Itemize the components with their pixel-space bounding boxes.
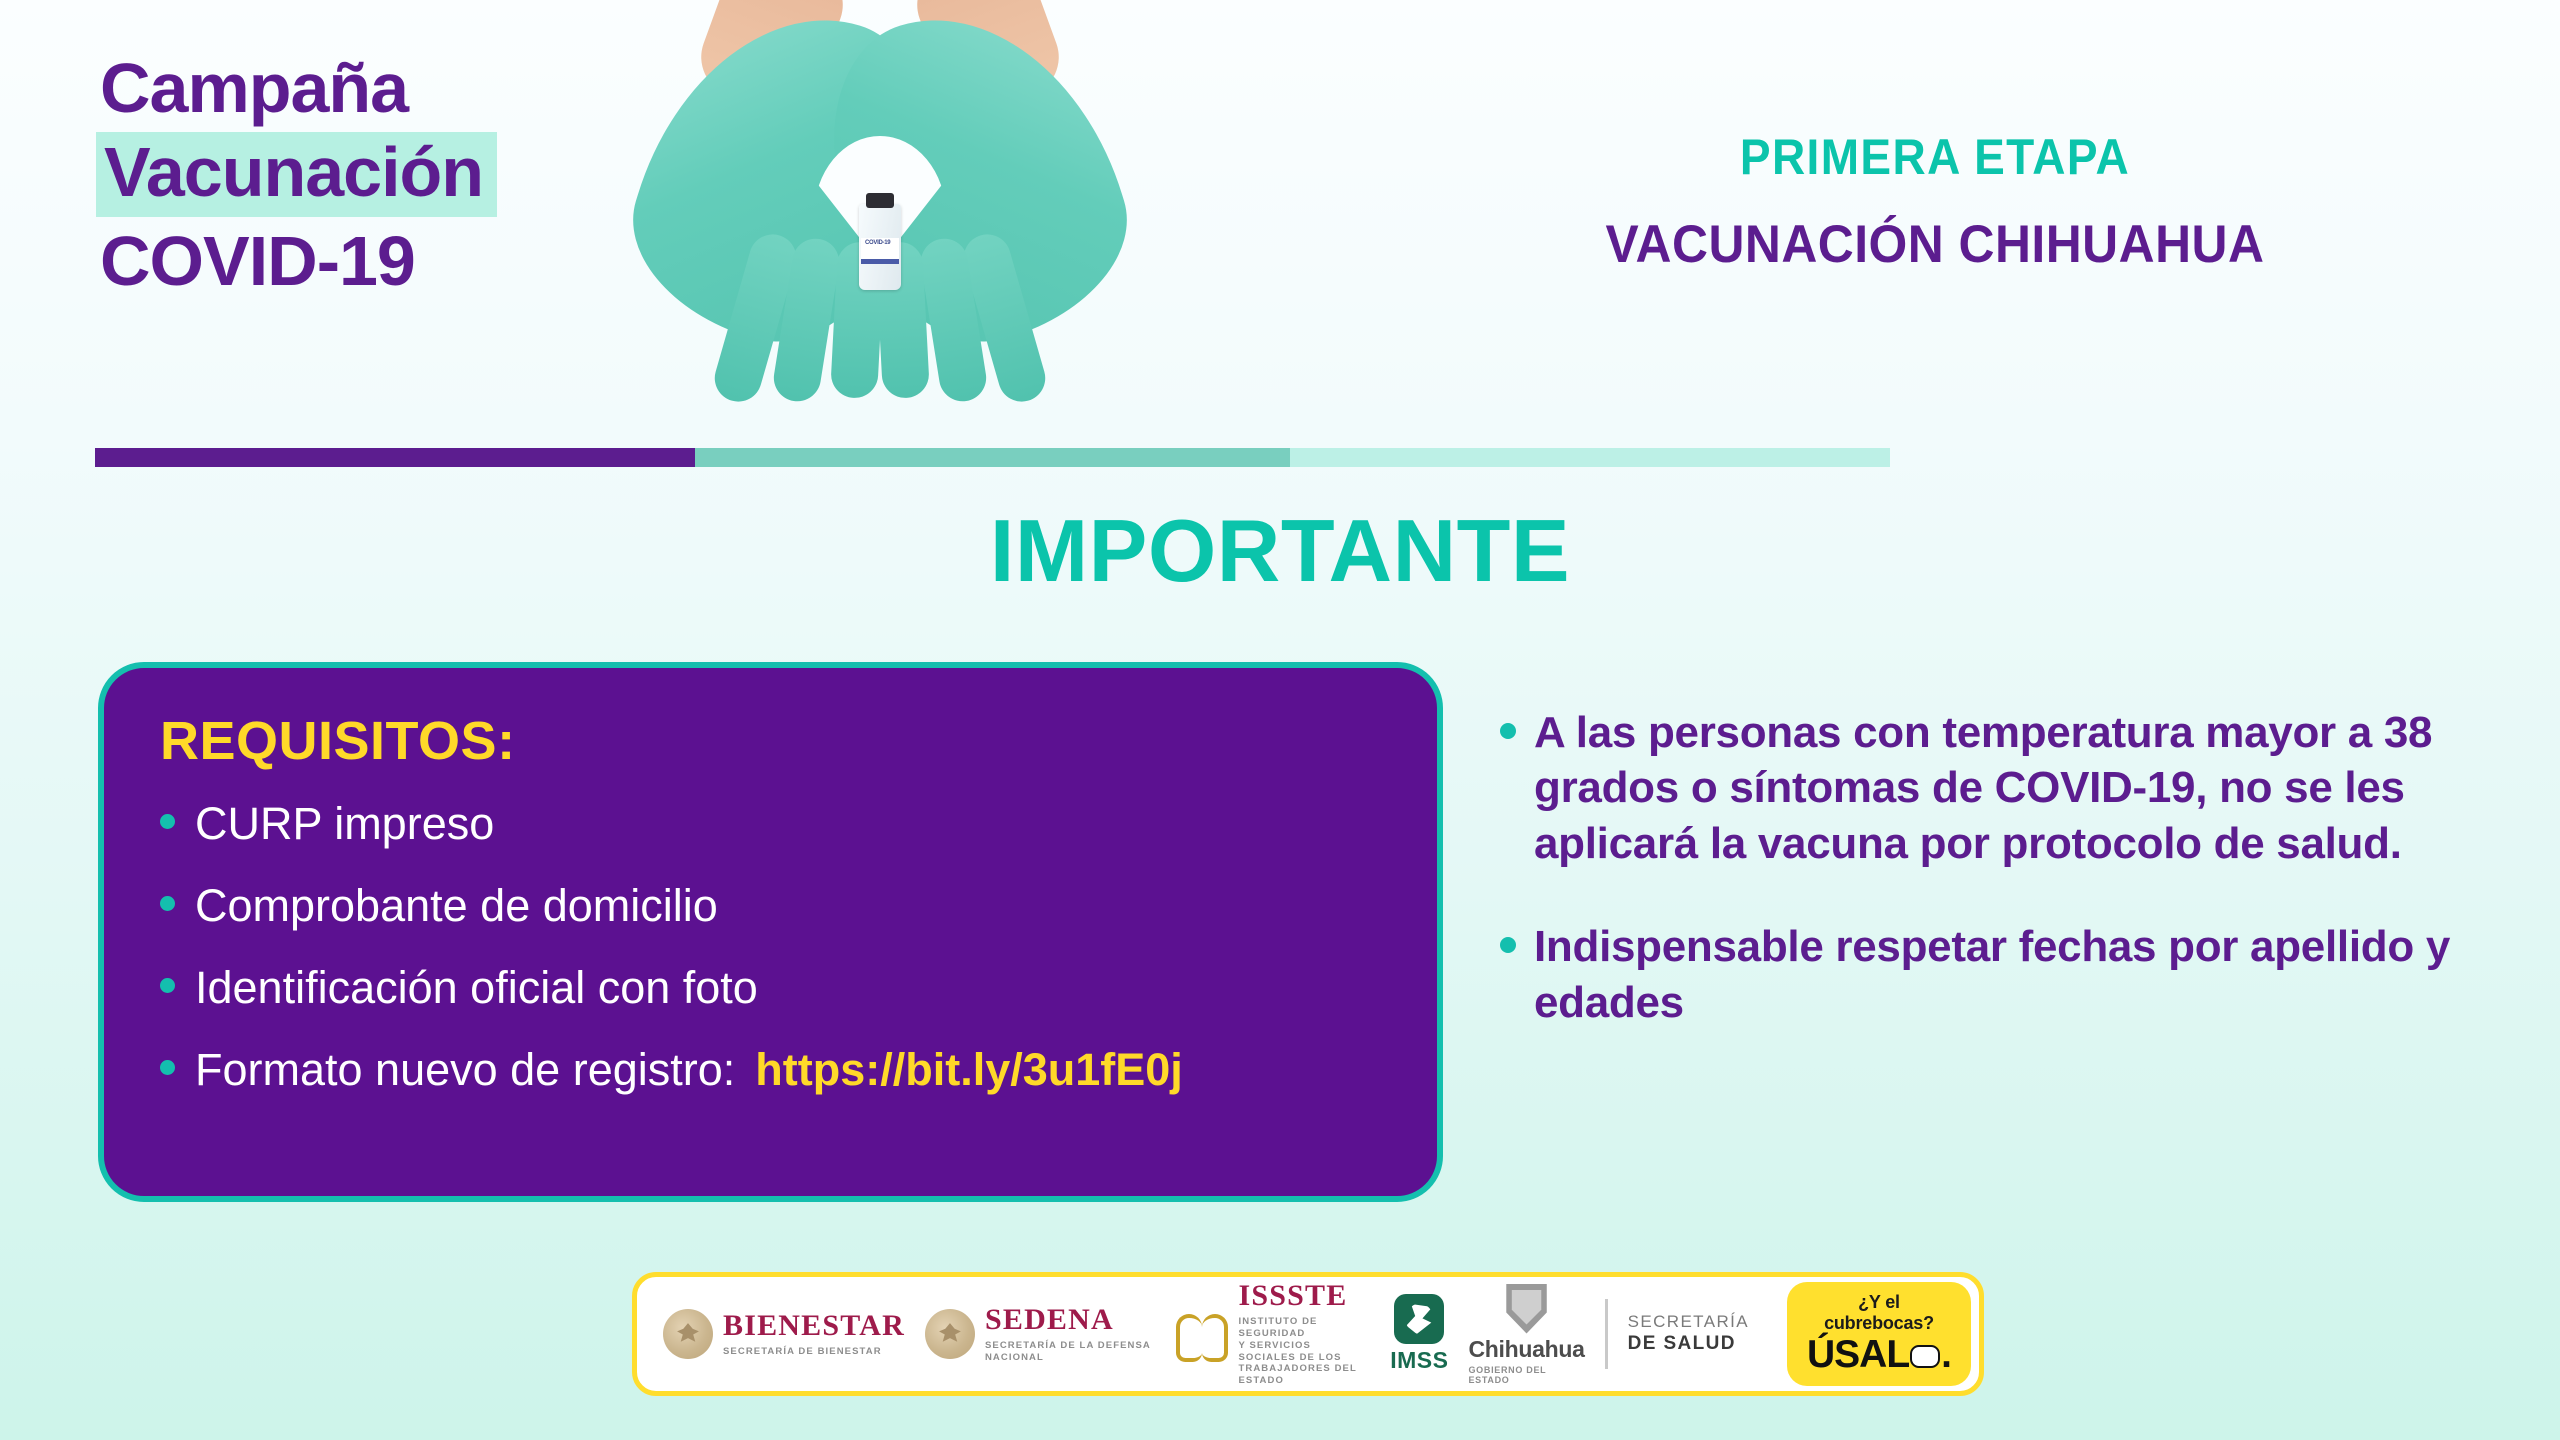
logo-subtitle: SECRETARÍA DE LA DEFENSA NACIONAL	[985, 1340, 1157, 1364]
imss-mother-child-icon	[1394, 1294, 1444, 1344]
bullet-icon	[160, 978, 175, 993]
logo-name: BIENESTAR	[723, 1311, 905, 1341]
requisitos-panel: REQUISITOS: CURP impreso Comprobante de …	[98, 662, 1443, 1202]
vial-label: COVID-19	[861, 238, 899, 264]
logo-bienestar: BIENESTAR SECRETARÍA DE BIENESTAR	[663, 1309, 905, 1359]
logo-name: SEDENA	[985, 1305, 1157, 1335]
note-text: Indispensable respetar fechas por apelli…	[1534, 919, 2480, 1030]
list-item: A las personas con temperatura mayor a 3…	[1500, 705, 2480, 871]
requisito-text: Comprobante de domicilio	[195, 880, 718, 932]
mexican-eagle-seal-icon	[663, 1309, 713, 1359]
list-item: CURP impreso	[160, 798, 1381, 850]
gloved-hands-heart-photo: COVID-19	[620, 0, 1140, 416]
logo-subtitle: SECRETARÍA DE BIENESTAR	[723, 1346, 905, 1358]
logo-subtitle: GOBIERNO DEL ESTADO	[1468, 1365, 1584, 1385]
divider-segment-mint	[1290, 448, 1890, 467]
requisito-text: Formato nuevo de registro:	[195, 1044, 735, 1096]
segmented-divider-bar	[95, 448, 1890, 467]
title-line-2-highlighted: Vacunación	[96, 132, 497, 216]
logo-secretaria-de-salud: SECRETARÍA DE SALUD	[1628, 1312, 1749, 1355]
note-text: A las personas con temperatura mayor a 3…	[1534, 705, 2480, 871]
mexican-eagle-seal-icon	[925, 1309, 975, 1359]
logo-sedena: SEDENA SECRETARÍA DE LA DEFENSA NACIONAL	[925, 1305, 1157, 1364]
cubrebocas-badge: ¿Y el cubrebocas? ÚSAL .	[1787, 1282, 1971, 1386]
usalo-text-after: .	[1941, 1335, 1951, 1374]
cubrebocas-question: ¿Y el cubrebocas?	[1807, 1292, 1951, 1334]
bullet-icon	[160, 1060, 175, 1075]
footer-divider	[1605, 1299, 1608, 1369]
stage-label: PRIMERA ETAPA	[1434, 128, 2437, 186]
stage-title: VACUNACIÓN CHIHUAHUA	[1423, 214, 2448, 275]
bullet-icon	[160, 814, 175, 829]
section-heading: IMPORTANTE	[0, 500, 2560, 602]
registration-link[interactable]: https://bit.ly/3u1fE0j	[755, 1044, 1183, 1096]
salud-line-1: SECRETARÍA	[1628, 1312, 1749, 1332]
list-item: Indispensable respetar fechas por apelli…	[1500, 919, 2480, 1030]
campaign-title: Campaña Vacunación COVID-19	[100, 50, 660, 299]
title-line-1: Campaña	[100, 50, 660, 126]
face-mask-icon	[1910, 1345, 1940, 1368]
notes-list: A las personas con temperatura mayor a 3…	[1500, 705, 2480, 1078]
salud-line-2: DE SALUD	[1628, 1333, 1749, 1356]
list-item-with-link: Formato nuevo de registro: https://bit.l…	[160, 1044, 1381, 1096]
usalo-text-before: ÚSAL	[1807, 1335, 1909, 1374]
vaccine-vial-icon: COVID-19	[859, 204, 901, 290]
vial-cap	[866, 193, 894, 208]
logo-name: Chihuahua	[1468, 1336, 1584, 1363]
requisito-text: CURP impreso	[195, 798, 494, 850]
cubrebocas-answer: ÚSAL .	[1807, 1335, 1951, 1374]
header-right-block: PRIMERA ETAPA VACUNACIÓN CHIHUAHUA	[1390, 128, 2480, 275]
logo-imss: IMSS	[1390, 1294, 1448, 1374]
list-item: Identificación oficial con foto	[160, 962, 1381, 1014]
logo-chihuahua: Chihuahua GOBIERNO DEL ESTADO	[1468, 1284, 1584, 1385]
requisito-text: Identificación oficial con foto	[195, 962, 758, 1014]
bullet-icon	[1500, 723, 1516, 739]
divider-segment-teal	[695, 448, 1290, 467]
bullet-icon	[1500, 937, 1516, 953]
logo-issste: ISSSTE INSTITUTO DE SEGURIDAD Y SERVICIO…	[1176, 1281, 1370, 1387]
footer-logo-bar: BIENESTAR SECRETARÍA DE BIENESTAR SEDENA…	[632, 1272, 1984, 1396]
chihuahua-shield-icon	[1505, 1284, 1549, 1334]
bullet-icon	[160, 896, 175, 911]
vial-label-text: COVID-19	[865, 240, 890, 246]
list-item: Comprobante de domicilio	[160, 880, 1381, 932]
requisitos-title: REQUISITOS:	[160, 710, 1381, 772]
cradling-hands-icon	[1176, 1310, 1228, 1358]
header: Campaña Vacunación COVID-19 COVID-19 PRI…	[0, 0, 2560, 470]
logo-name: ISSSTE	[1238, 1281, 1370, 1311]
divider-segment-purple	[95, 448, 695, 467]
title-line-3: COVID-19	[100, 223, 660, 299]
logo-subtitle: INSTITUTO DE SEGURIDAD Y SERVICIOS SOCIA…	[1238, 1316, 1370, 1387]
logo-name: IMSS	[1390, 1347, 1448, 1374]
